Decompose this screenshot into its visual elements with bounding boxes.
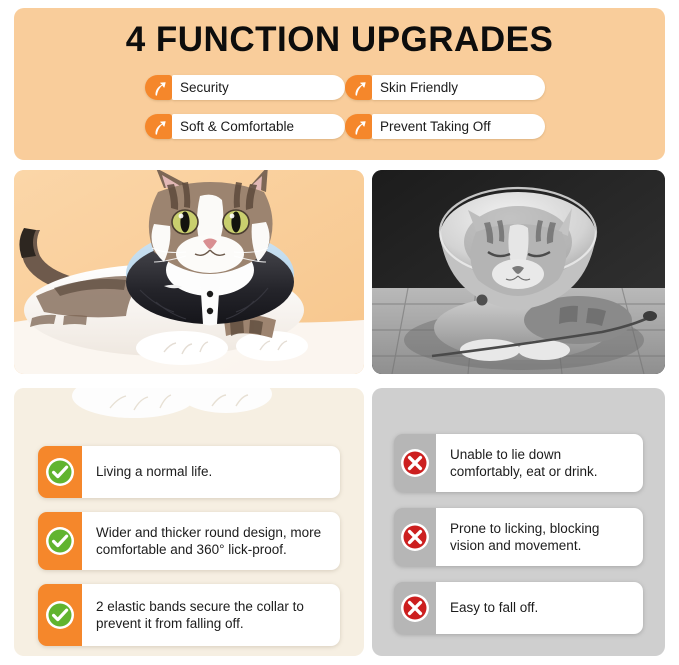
feature-pill-skin-friendly: Skin Friendly — [345, 75, 545, 100]
swoosh-arrow-icon — [145, 114, 172, 139]
pros-list-item: Wider and thicker round design, more com… — [38, 512, 340, 570]
pros-item-label: Wider and thicker round design, more com… — [96, 524, 328, 559]
feature-pill-label: Prevent Taking Off — [380, 120, 491, 134]
cons-panel: Unable to lie down comfortably, eat or d… — [372, 388, 665, 656]
red-x-circle-icon — [394, 508, 436, 566]
cons-item-label: Unable to lie down comfortably, eat or d… — [450, 446, 631, 481]
feature-pill-body: Soft & Comfortable — [172, 114, 345, 139]
feature-pill-grid: Security Skin Friendly Soft & Comfortabl… — [145, 75, 545, 153]
feature-pill-body: Prevent Taking Off — [372, 114, 545, 139]
feature-pill-label: Skin Friendly — [380, 81, 458, 95]
feature-pill-body: Skin Friendly — [372, 75, 545, 100]
swoosh-arrow-icon — [145, 75, 172, 100]
header-banner: 4 FUNCTION UPGRADES Security Skin Friend… — [14, 8, 665, 160]
product-photo-soft-collar — [14, 170, 364, 374]
green-check-circle-icon — [38, 584, 82, 646]
green-check-circle-icon — [38, 512, 82, 570]
cons-list-item: Easy to fall off. — [394, 582, 643, 634]
pros-text-box: Living a normal life. — [82, 446, 340, 498]
feature-pill-body: Security — [172, 75, 345, 100]
cons-item-label: Easy to fall off. — [450, 599, 538, 616]
page-title: 4 FUNCTION UPGRADES — [14, 20, 665, 60]
feature-pill-prevent-taking-off: Prevent Taking Off — [345, 114, 545, 139]
pros-list: Living a normal life. Wider and thicker … — [14, 388, 364, 656]
green-check-circle-icon — [38, 446, 82, 498]
pros-list-item: 2 elastic bands secure the collar to pre… — [38, 584, 340, 646]
red-x-circle-icon — [394, 582, 436, 634]
pros-list-item: Living a normal life. — [38, 446, 340, 498]
cons-text-box: Easy to fall off. — [436, 582, 643, 634]
pros-text-box: 2 elastic bands secure the collar to pre… — [82, 584, 340, 646]
cons-text-box: Prone to licking, blocking vision and mo… — [436, 508, 643, 566]
red-x-circle-icon — [394, 434, 436, 492]
comparison-photo-cone-collar — [372, 170, 665, 374]
feature-pill-soft-comfortable: Soft & Comfortable — [145, 114, 345, 139]
cons-item-label: Prone to licking, blocking vision and mo… — [450, 520, 631, 555]
cons-text-box: Unable to lie down comfortably, eat or d… — [436, 434, 643, 492]
pros-item-label: Living a normal life. — [96, 463, 212, 480]
feature-pill-label: Soft & Comfortable — [180, 120, 294, 134]
pros-text-box: Wider and thicker round design, more com… — [82, 512, 340, 570]
swoosh-arrow-icon — [345, 114, 372, 139]
pros-item-label: 2 elastic bands secure the collar to pre… — [96, 598, 328, 633]
feature-pill-label: Security — [180, 81, 229, 95]
swoosh-arrow-icon — [345, 75, 372, 100]
feature-pill-security: Security — [145, 75, 345, 100]
pros-panel: Living a normal life. Wider and thicker … — [14, 388, 364, 656]
cons-list: Unable to lie down comfortably, eat or d… — [372, 388, 665, 656]
cons-list-item: Prone to licking, blocking vision and mo… — [394, 508, 643, 566]
cons-list-item: Unable to lie down comfortably, eat or d… — [394, 434, 643, 492]
